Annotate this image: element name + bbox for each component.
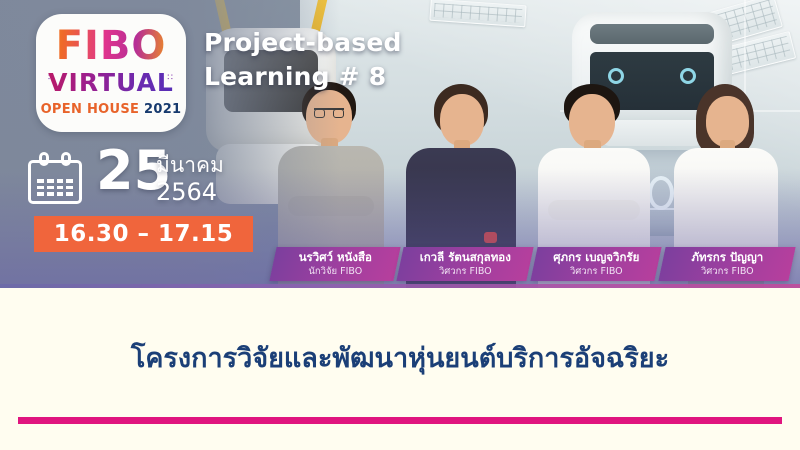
- speaker-badge-2: เกวลี รัตนสกุลทอง วิศวกร FIBO: [396, 247, 533, 281]
- poster-root: FIBO ∷ ∷ VIRTUAL OPEN HOUSE 2021 Project…: [0, 0, 800, 450]
- event-month: มีนาคม: [156, 152, 224, 178]
- speaker-name-4: ภัทรกร ปัญญา: [662, 250, 792, 265]
- hero-title: Project-based Learning # 8: [204, 26, 402, 94]
- lower-section: โครงการวิจัยและพัฒนาหุ่นยนต์บริการอัจฉริ…: [0, 288, 800, 450]
- logo-open-house-text: OPEN HOUSE: [41, 102, 140, 117]
- logo-year-text: 2021: [144, 102, 181, 117]
- main-headline: โครงการวิจัยและพัฒนาหุ่นยนต์บริการอัจฉริ…: [0, 336, 800, 379]
- event-time-text: 16.30 – 17.15: [54, 221, 234, 247]
- speaker-name-1: นรวิศว์ หนังสือ: [273, 250, 397, 265]
- speaker-badge-4: ภัทรกร ปัญญา วิศวกร FIBO: [658, 247, 795, 281]
- logo-subtitle: OPEN HOUSE 2021: [36, 102, 186, 117]
- speaker-role-3: วิศวกร FIBO: [534, 265, 658, 278]
- pink-rule-divider: [18, 417, 782, 424]
- logo-virtual-text: VIRTUAL: [36, 68, 186, 97]
- speaker-role-1: นักวิจัย FIBO: [273, 265, 397, 278]
- speaker-badge-1: นรวิศว์ หนังสือ นักวิจัย FIBO: [269, 247, 400, 281]
- speaker-role-4: วิศวกร FIBO: [662, 265, 792, 278]
- speaker-role-2: วิศวกร FIBO: [400, 265, 530, 278]
- speaker-name-3: ศุภกร เบญจวิกรัย: [534, 250, 658, 265]
- calendar-icon: [28, 152, 82, 204]
- speaker-name-2: เกวลี รัตนสกุลทอง: [400, 250, 530, 265]
- event-year: 2564: [156, 178, 217, 206]
- event-time-banner: 16.30 – 17.15: [34, 216, 253, 252]
- hero-photo-band: FIBO ∷ ∷ VIRTUAL OPEN HOUSE 2021 Project…: [0, 0, 800, 288]
- fibo-logo: FIBO ∷ ∷ VIRTUAL OPEN HOUSE 2021: [36, 14, 186, 132]
- logo-fibo-text: FIBO: [36, 24, 186, 68]
- speaker-badge-3: ศุภกร เบญจวิกรัย วิศวกร FIBO: [530, 247, 661, 281]
